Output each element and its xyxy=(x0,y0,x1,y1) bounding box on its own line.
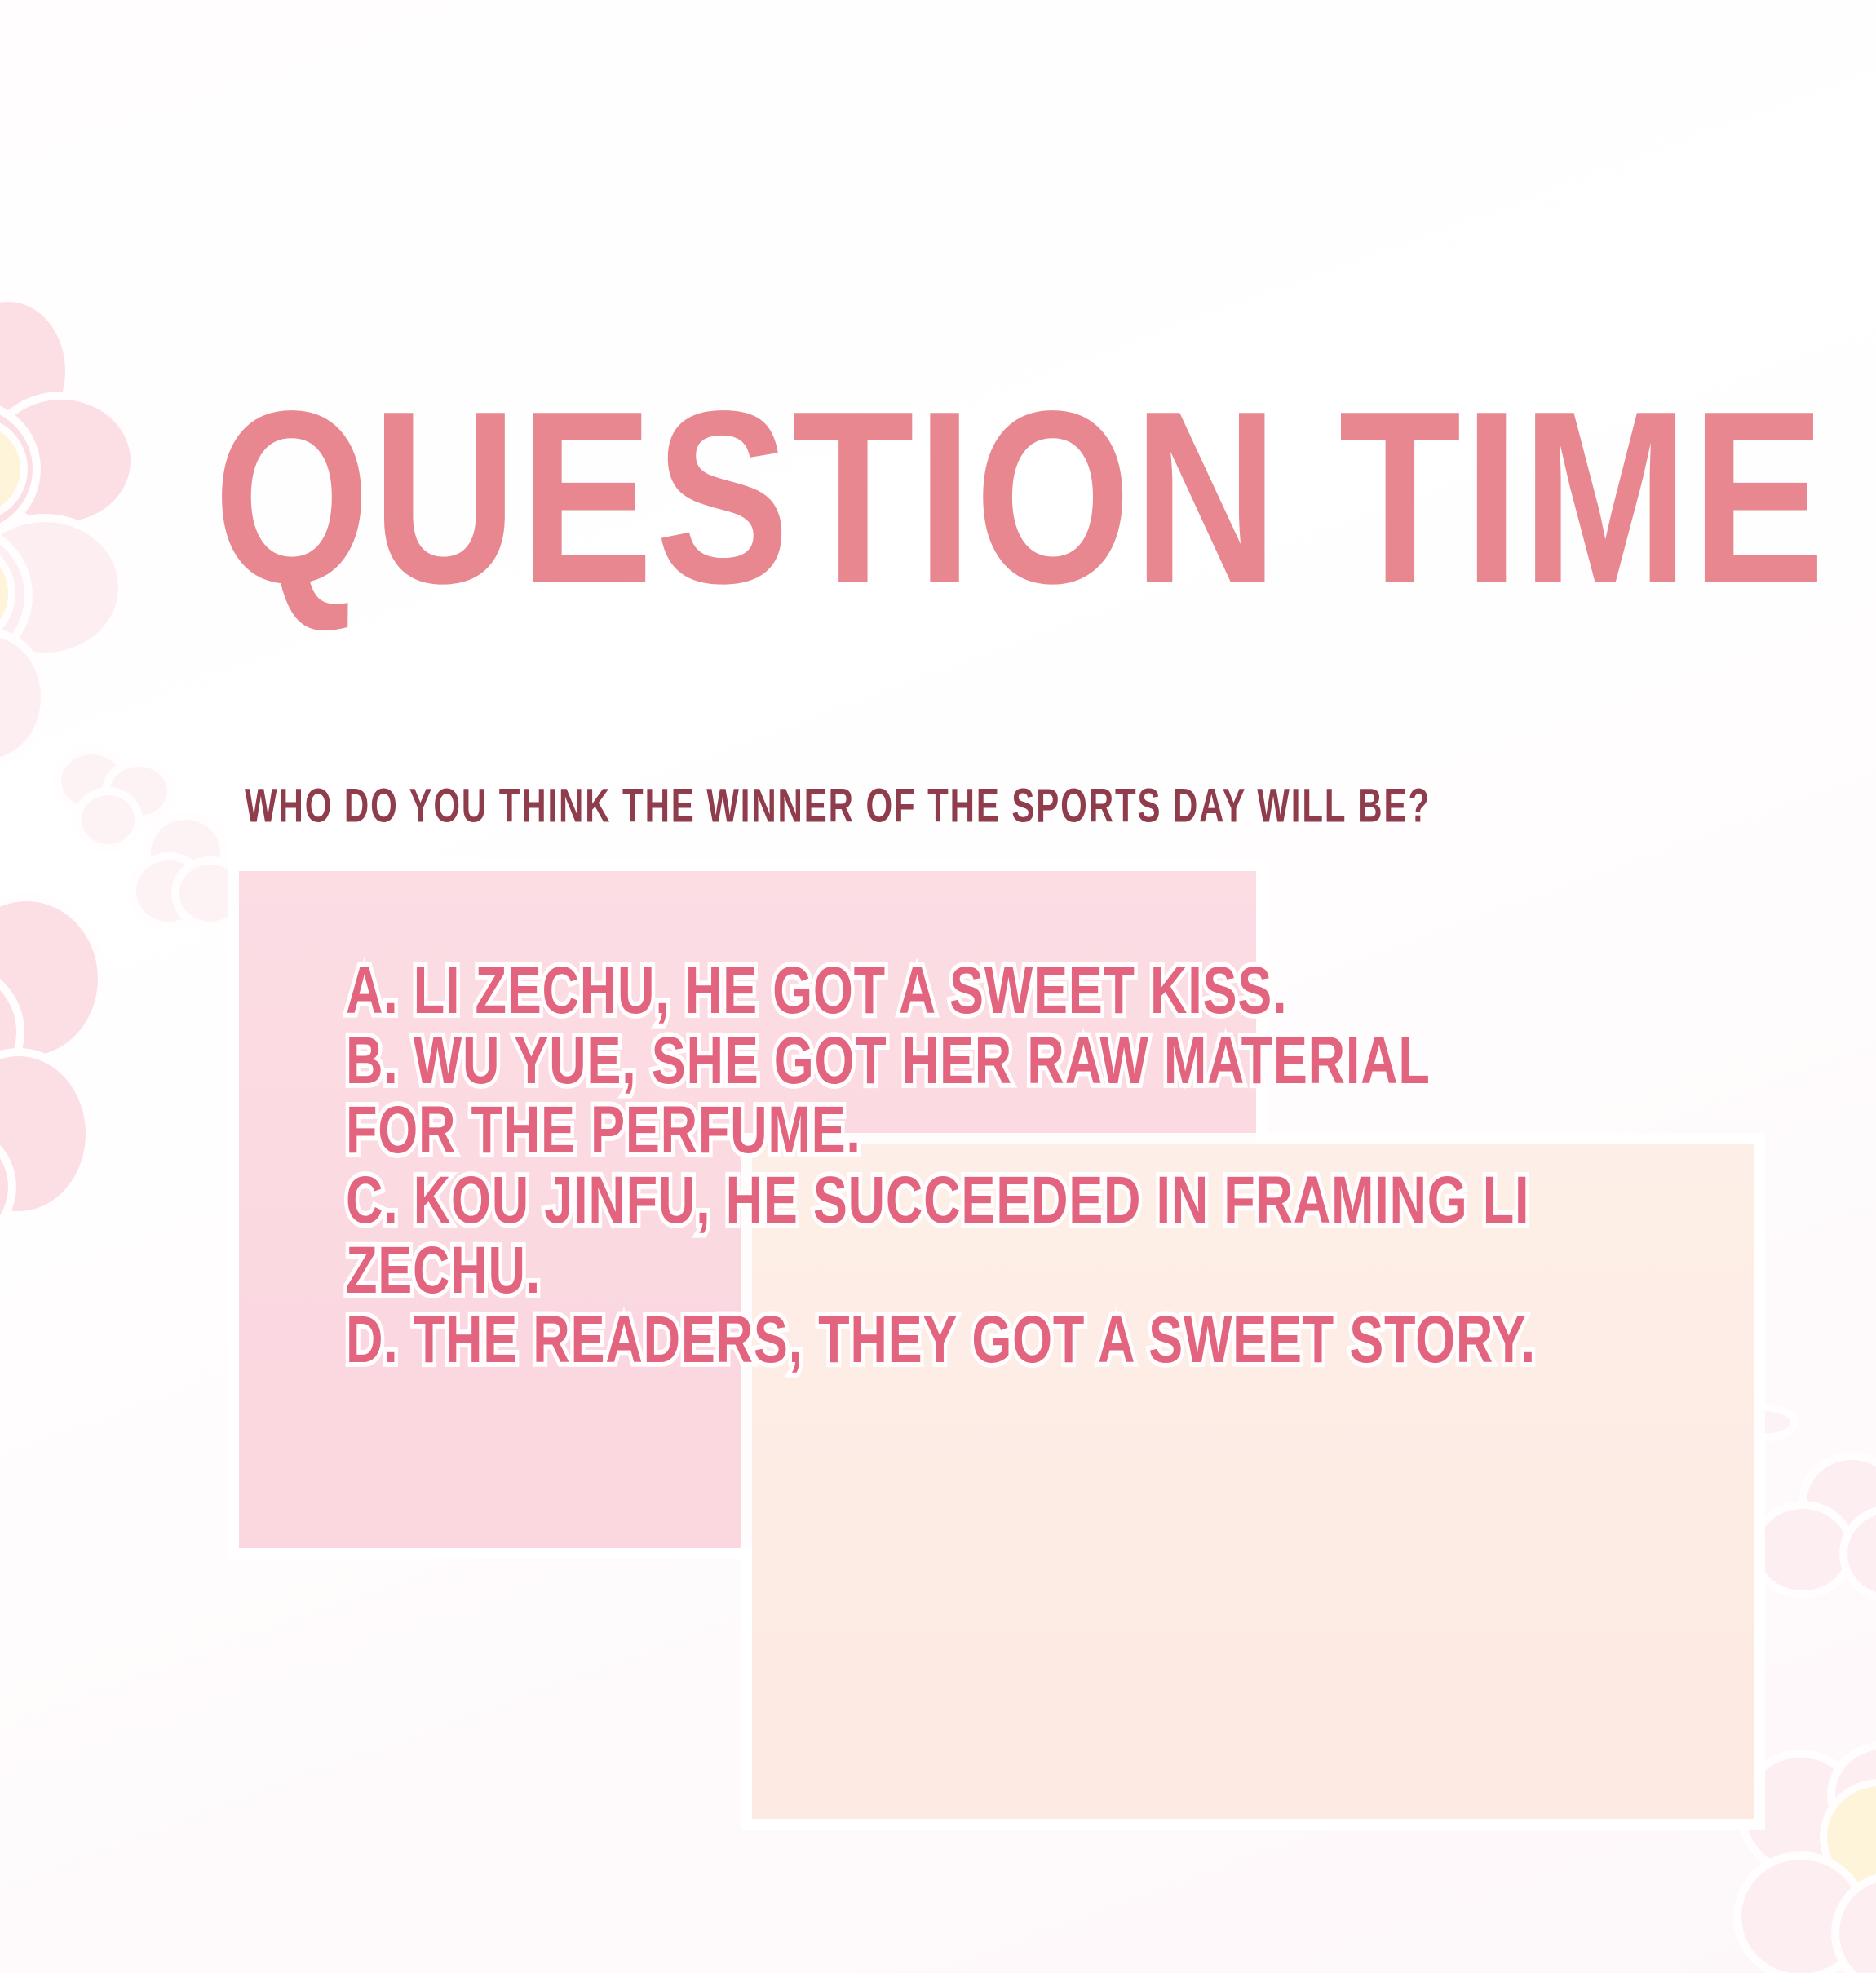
flower-petal xyxy=(0,408,33,530)
poster-canvas: QUESTION TIME WHO DO YOU THINK THE WINNE… xyxy=(0,0,1876,1973)
flower-decoration-left-lower xyxy=(0,893,147,1219)
flower-petal xyxy=(136,860,201,922)
flower-petal xyxy=(151,820,220,885)
flower-petal xyxy=(0,1130,8,1244)
flower-petal xyxy=(0,522,118,653)
flower-petal xyxy=(61,754,122,807)
flower-petal xyxy=(0,400,131,522)
flower-petal xyxy=(0,901,98,1056)
flower-petal xyxy=(1758,1509,1847,1590)
flower-petal xyxy=(1745,1758,1856,1868)
flower-center xyxy=(0,424,20,514)
answer-line[interactable]: D. THE READERS, THEY GOT A SWEET STORY. xyxy=(346,1295,1790,1386)
flower-decoration-top-left xyxy=(0,285,220,628)
flower-center xyxy=(0,546,8,640)
flower-petal xyxy=(0,1056,86,1211)
flower-petal xyxy=(0,636,41,759)
flower-petal xyxy=(0,971,16,1093)
flower-petal xyxy=(1807,1460,1876,1546)
flower-center xyxy=(1827,1786,1876,1888)
flower-petal xyxy=(179,865,241,922)
page-title: QUESTION TIME xyxy=(214,382,1856,616)
flower-petal xyxy=(1741,1860,1860,1973)
flower-petal xyxy=(1847,1513,1876,1595)
flower-decoration-left-small xyxy=(45,746,232,934)
flower-petal xyxy=(0,302,65,440)
flower-petal xyxy=(1835,1750,1876,1839)
answer-options-list: A. LI ZECHU, HE GOT A SWEET KISS. B. WU … xyxy=(346,946,1790,1365)
flower-petal xyxy=(110,767,167,816)
question-prompt: WHO DO YOU THINK THE WINNER OF THE SPORT… xyxy=(245,779,1431,833)
flower-petal xyxy=(0,530,24,661)
flower-petal xyxy=(82,795,135,844)
flower-petal xyxy=(1839,1880,1876,1973)
